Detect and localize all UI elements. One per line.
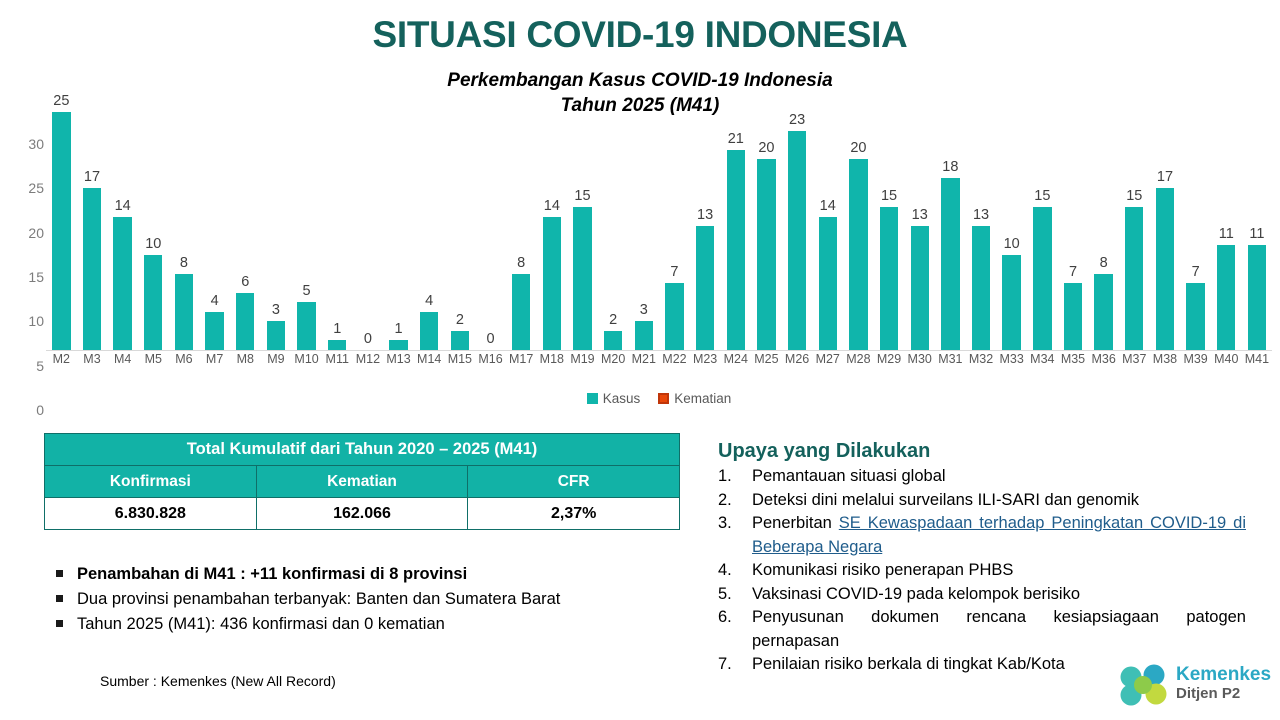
bar[interactable] [236,293,254,350]
x-axis-tick: M35 [1058,352,1089,372]
upaya-item-text: Deteksi dini melalui surveilans ILI-SARI… [752,489,1246,513]
legend-label-kasus: Kasus [603,391,641,406]
bar-value-label: 6 [230,275,261,289]
upaya-item-number: 2. [718,489,752,513]
bar[interactable] [972,226,990,350]
bar-slot[interactable]: 18 [935,62,966,350]
y-axis-tick: 30 [10,136,44,152]
bar-slot[interactable]: 2 [598,62,629,350]
bar[interactable] [144,255,162,350]
bar-chart: 051015202530 251714108463510142081415237… [0,62,1280,412]
bar[interactable] [880,207,898,350]
bar-value-label: 4 [199,294,230,308]
legend-label-kematian: Kematian [674,391,731,406]
bar[interactable] [635,321,653,350]
bar-value-label: 7 [659,265,690,279]
bar[interactable] [696,226,714,350]
upaya-item-number: 3. [718,512,752,536]
logo-text: Kemenkes Ditjen P2 [1176,664,1271,702]
upaya-item: 3.Penerbitan SE Kewaspadaan terhadap Pen… [718,512,1246,559]
upaya-list: 1.Pemantauan situasi global2.Deteksi din… [718,465,1246,677]
bullet-square-icon [56,595,63,602]
logo-unit: Ditjen P2 [1176,685,1271,702]
x-axis-tick: M27 [812,352,843,372]
y-axis-tick: 0 [10,402,44,418]
bar[interactable] [1186,283,1204,350]
x-axis-tick: M31 [935,352,966,372]
bar-value-label: 7 [1180,265,1211,279]
bar[interactable] [911,226,929,350]
upaya-section: Upaya yang Dilakukan 1.Pemantauan situas… [718,440,1246,677]
x-axis-tick: M40 [1211,352,1242,372]
legend-swatch-kematian [658,393,669,404]
bullet-list: Penambahan di M41 : +11 konfirmasi di 8 … [56,562,696,637]
table-header-cfr: CFR [468,466,680,498]
bar-value-label: 7 [1058,265,1089,279]
bar-value-label: 1 [322,322,353,336]
bar[interactable] [1002,255,1020,350]
bar-slot[interactable]: 1 [322,62,353,350]
table-title-cell: Total Kumulatif dari Tahun 2020 – 2025 (… [45,434,680,466]
bar-value-label: 15 [567,189,598,203]
bar-value-label: 2 [598,313,629,327]
bar-slot[interactable]: 3 [628,62,659,350]
bar-value-label: 13 [904,208,935,222]
y-axis-tick: 5 [10,358,44,374]
bar-slot[interactable]: 6 [230,62,261,350]
x-axis-tick: M16 [475,352,506,372]
bar-slot[interactable]: 21 [720,62,751,350]
bar-value-label: 23 [782,113,813,127]
bullet-item: Tahun 2025 (M41): 436 konfirmasi dan 0 k… [56,612,696,637]
x-axis-tick: M36 [1088,352,1119,372]
x-axis-tick: M2 [46,352,77,372]
upaya-item-text: Pemantauan situasi global [752,465,1246,489]
x-axis-tick: M10 [291,352,322,372]
bar-value-label: 17 [77,170,108,184]
bar-slot[interactable]: 20 [843,62,874,350]
bar[interactable] [205,312,223,350]
bar-value-label: 1 [383,322,414,336]
bar-value-label: 15 [1027,189,1058,203]
bar-slot[interactable]: 15 [567,62,598,350]
bar-value-label: 14 [812,199,843,213]
bar[interactable] [389,340,407,350]
x-axis-tick: M18 [537,352,568,372]
bar[interactable] [757,159,775,350]
x-axis-tick: M7 [199,352,230,372]
bar-value-label: 0 [475,332,506,346]
logo-name: Kemenkes [1176,664,1271,685]
x-axis-tick: M8 [230,352,261,372]
upaya-item: 1.Pemantauan situasi global [718,465,1246,489]
bar-slot[interactable]: 25 [46,62,77,350]
y-axis-tick: 25 [10,180,44,196]
y-axis-tick: 10 [10,313,44,329]
bar-slot[interactable]: 3 [261,62,292,350]
bar-slot[interactable]: 13 [966,62,997,350]
bar-slot[interactable]: 0 [475,62,506,350]
upaya-item-text: Penerbitan SE Kewaspadaan terhadap Penin… [752,512,1246,559]
x-axis-tick: M32 [966,352,997,372]
upaya-item-text: Komunikasi risiko penerapan PHBS [752,559,1246,583]
bullet-square-icon [56,570,63,577]
x-axis-tick: M19 [567,352,598,372]
x-axis-tick: M5 [138,352,169,372]
bar[interactable] [113,217,131,350]
bar-value-label: 8 [1088,256,1119,270]
plot-area: 2517141084635101420814152371321202314201… [46,62,1272,412]
bar[interactable] [1248,245,1266,350]
bar-value-label: 10 [138,237,169,251]
bar-value-label: 3 [261,303,292,317]
bar[interactable] [788,131,806,350]
bar-value-label: 13 [966,208,997,222]
bar-value-label: 10 [996,237,1027,251]
bar-value-label: 0 [353,332,384,346]
bar[interactable] [1094,274,1112,350]
bar-slot[interactable]: 13 [904,62,935,350]
bar-value-label: 11 [1242,227,1273,241]
bar[interactable] [420,312,438,350]
bar[interactable] [512,274,530,350]
bar-value-label: 13 [690,208,721,222]
x-axis-tick: M34 [1027,352,1058,372]
bar[interactable] [819,217,837,350]
y-axis-tick: 15 [10,269,44,285]
bar-slot[interactable]: 4 [414,62,445,350]
x-axis-tick: M30 [904,352,935,372]
bar-slot[interactable]: 14 [812,62,843,350]
chart-legend: Kasus Kematian [46,388,1272,408]
bar-slot[interactable]: 14 [537,62,568,350]
bar[interactable] [543,217,561,350]
upaya-item: 4.Komunikasi risiko penerapan PHBS [718,559,1246,583]
bar-value-label: 17 [1150,170,1181,184]
x-axis-tick: M39 [1180,352,1211,372]
bar[interactable] [175,274,193,350]
bar-slot[interactable]: 4 [199,62,230,350]
upaya-item-number: 1. [718,465,752,489]
upaya-item-number: 5. [718,583,752,607]
x-axis-tick: M41 [1242,352,1273,372]
bar-value-label: 4 [414,294,445,308]
bar-slot[interactable]: 2 [445,62,476,350]
upaya-item: 5.Vaksinasi COVID-19 pada kelompok beris… [718,583,1246,607]
bullet-text: Dua provinsi penambahan terbanyak: Bante… [77,587,560,612]
x-axis-tick: M4 [107,352,138,372]
bar-value-label: 25 [46,94,77,108]
x-axis-tick: M20 [598,352,629,372]
legend-item-kematian[interactable]: Kematian [658,391,731,406]
table-row-title: Total Kumulatif dari Tahun 2020 – 2025 (… [45,434,680,466]
bar[interactable] [297,302,315,350]
bar-slot[interactable]: 8 [1088,62,1119,350]
x-axis-tick: M22 [659,352,690,372]
upaya-item-text: Penyusunan dokumen rencana kesiapsiagaan… [752,606,1246,653]
x-axis-tick: M33 [996,352,1027,372]
bar-slot[interactable]: 11 [1211,62,1242,350]
bar-value-label: 15 [1119,189,1150,203]
bar-slot[interactable]: 13 [690,62,721,350]
bar[interactable] [604,331,622,350]
bar-slot[interactable]: 10 [996,62,1027,350]
upaya-item-link[interactable]: SE Kewaspadaan terhadap Peningkatan COVI… [752,514,1246,556]
bar-slot[interactable]: 7 [1058,62,1089,350]
bar-value-label: 8 [506,256,537,270]
legend-item-kasus[interactable]: Kasus [587,391,641,406]
bar-slot[interactable]: 8 [506,62,537,350]
bar-value-label: 15 [874,189,905,203]
y-axis-tick: 20 [10,225,44,241]
x-axis-labels: M2M3M4M5M6M7M8M9M10M11M12M13M14M15M16M17… [46,352,1272,372]
bar-slot[interactable]: 7 [1180,62,1211,350]
bar[interactable] [849,159,867,350]
upaya-heading: Upaya yang Dilakukan [718,440,1246,463]
bar-value-label: 3 [628,303,659,317]
bar-slot[interactable]: 1 [383,62,414,350]
x-axis-tick: M38 [1150,352,1181,372]
bullet-square-icon [56,620,63,627]
bar-value-label: 8 [169,256,200,270]
bar-slot[interactable]: 20 [751,62,782,350]
bar[interactable] [665,283,683,350]
bar-slot[interactable]: 11 [1242,62,1273,350]
x-axis-tick: M23 [690,352,721,372]
bar[interactable] [573,207,591,350]
page-title: SITUASI COVID-19 INDONESIA [0,14,1280,56]
bar-value-label: 21 [720,132,751,146]
x-axis-tick: M28 [843,352,874,372]
bar-slot[interactable]: 5 [291,62,322,350]
x-axis-tick: M12 [353,352,384,372]
bullet-item: Dua provinsi penambahan terbanyak: Bante… [56,587,696,612]
x-axis-tick: M37 [1119,352,1150,372]
bar-slot[interactable]: 17 [77,62,108,350]
bar[interactable] [727,150,745,350]
x-axis-line [46,350,1272,351]
summary-table: Total Kumulatif dari Tahun 2020 – 2025 (… [44,433,680,530]
bar[interactable] [451,331,469,350]
bar-value-label: 20 [843,141,874,155]
x-axis-tick: M15 [445,352,476,372]
table-header-kematian: Kematian [256,466,468,498]
bar-slot[interactable]: 15 [874,62,905,350]
x-axis-tick: M14 [414,352,445,372]
bar[interactable] [1033,207,1051,350]
bar-slot[interactable]: 17 [1150,62,1181,350]
bar-slot[interactable]: 8 [169,62,200,350]
bar-value-label: 14 [537,199,568,213]
x-axis-tick: M6 [169,352,200,372]
x-axis-tick: M9 [261,352,292,372]
bar-value-label: 20 [751,141,782,155]
table-row-values: 6.830.828 162.066 2,37% [45,498,680,530]
x-axis-tick: M29 [874,352,905,372]
bullet-item: Penambahan di M41 : +11 konfirmasi di 8 … [56,562,696,587]
bar[interactable] [1064,283,1082,350]
x-axis-tick: M24 [720,352,751,372]
bullet-text: Penambahan di M41 : +11 konfirmasi di 8 … [77,562,467,587]
upaya-item-number: 7. [718,653,752,677]
bar-slot[interactable]: 15 [1119,62,1150,350]
kemenkes-logo: Kemenkes Ditjen P2 [1114,660,1274,716]
bullet-text: Tahun 2025 (M41): 436 konfirmasi dan 0 k… [77,612,445,637]
kemenkes-flower-icon [1114,660,1174,712]
bar-value-label: 11 [1211,227,1242,241]
upaya-item: 6.Penyusunan dokumen rencana kesiapsiaga… [718,606,1246,653]
bar-slot[interactable]: 14 [107,62,138,350]
bar[interactable] [52,112,70,350]
table-value-kematian: 162.066 [256,498,468,530]
bar-slot[interactable]: 10 [138,62,169,350]
upaya-item: 2.Deteksi dini melalui surveilans ILI-SA… [718,489,1246,513]
table-value-cfr: 2,37% [468,498,680,530]
x-axis-tick: M3 [77,352,108,372]
bar[interactable] [1156,188,1174,350]
bar[interactable] [941,178,959,350]
table-value-konfirmasi: 6.830.828 [45,498,257,530]
bar[interactable] [1217,245,1235,350]
bar-slot[interactable]: 23 [782,62,813,350]
bar-slot[interactable]: 0 [353,62,384,350]
bar-value-label: 18 [935,160,966,174]
upaya-item-number: 6. [718,606,752,630]
bar[interactable] [328,340,346,350]
bar-value-label: 5 [291,284,322,298]
table-header-konfirmasi: Konfirmasi [45,466,257,498]
table-row-header: Konfirmasi Kematian CFR [45,466,680,498]
legend-swatch-kasus [587,393,598,404]
bar-slot[interactable]: 7 [659,62,690,350]
x-axis-tick: M25 [751,352,782,372]
x-axis-tick: M13 [383,352,414,372]
bar-slot[interactable]: 15 [1027,62,1058,350]
source-note: Sumber : Kemenkes (New All Record) [100,673,336,689]
bar[interactable] [1125,207,1143,350]
bar-value-label: 2 [445,313,476,327]
bar[interactable] [267,321,285,350]
x-axis-tick: M26 [782,352,813,372]
bar-value-label: 14 [107,199,138,213]
bar[interactable] [83,188,101,350]
upaya-item-text: Vaksinasi COVID-19 pada kelompok berisik… [752,583,1246,607]
x-axis-tick: M21 [628,352,659,372]
upaya-item-number: 4. [718,559,752,583]
bar-series-kasus: 2517141084635101420814152371321202314201… [46,62,1272,350]
y-axis: 051015202530 [8,62,44,412]
x-axis-tick: M17 [506,352,537,372]
x-axis-tick: M11 [322,352,353,372]
